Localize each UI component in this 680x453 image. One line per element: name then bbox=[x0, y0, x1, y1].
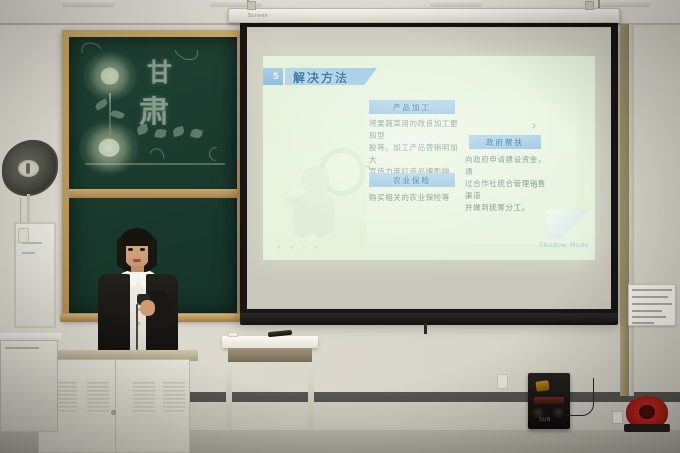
slide-title: 解决方法 bbox=[293, 69, 349, 86]
reel-hub bbox=[639, 405, 655, 419]
chalk-leaf bbox=[172, 126, 185, 137]
cabinet-lock-icon[interactable] bbox=[111, 410, 116, 415]
screen-pull-cord[interactable] bbox=[424, 323, 427, 334]
slide-marker bbox=[366, 166, 370, 170]
cabinet-vent bbox=[163, 382, 185, 414]
notice-text-line bbox=[632, 303, 672, 305]
notice-text-line bbox=[632, 296, 668, 298]
notice-text-line bbox=[632, 316, 666, 318]
copier-machine[interactable] bbox=[0, 340, 58, 432]
cabinet-vent bbox=[133, 382, 155, 414]
ceiling-lamp bbox=[598, 0, 650, 7]
speaker-driver bbox=[552, 407, 565, 418]
blackboard-divider bbox=[69, 189, 237, 198]
podium-cabinet[interactable] bbox=[38, 359, 190, 453]
fan-arm bbox=[27, 194, 30, 224]
desk-drawer[interactable] bbox=[228, 348, 312, 362]
screen-surface: 5 解决方法 产品加工 将果蔬菜用的改良加工更和型 胶等。加工产品营销明加大 宣… bbox=[247, 27, 611, 309]
chalk-leaf bbox=[154, 128, 166, 139]
cabinet-divider bbox=[115, 360, 116, 453]
slide-watermark: Shadow Mode bbox=[539, 241, 589, 249]
projector-screen-housing: Screen bbox=[228, 8, 620, 23]
projection-screen: 5 解决方法 产品加工 将果蔬菜用的改良加工更和型 胶等。加工产品营销明加大 宣… bbox=[240, 20, 618, 318]
chalk-leaf bbox=[110, 109, 125, 120]
microphone-cord bbox=[136, 304, 138, 350]
wall-outlet[interactable] bbox=[18, 228, 29, 243]
desk-leg bbox=[308, 362, 314, 428]
mouth bbox=[133, 259, 141, 262]
speaker-grille bbox=[534, 397, 564, 404]
wall-pillar bbox=[620, 24, 629, 396]
ceiling-lamp bbox=[62, 0, 114, 7]
slide-box-3-header: 政府帮扶 bbox=[469, 135, 541, 149]
speaker-cable bbox=[566, 378, 594, 416]
chalk-flower bbox=[87, 55, 133, 97]
classroom-scene: 甘 肃 Screen 5 解决方法 bbox=[0, 0, 680, 453]
copier-seam bbox=[5, 347, 39, 349]
presenter bbox=[96, 228, 178, 350]
wall-pillar-edge bbox=[629, 24, 634, 396]
screen-bottom-bar bbox=[240, 313, 618, 325]
blazer-left bbox=[98, 274, 130, 350]
presentation-slide: 5 解决方法 产品加工 将果蔬菜用的改良加工更和型 胶等。加工产品营销明加大 宣… bbox=[263, 56, 595, 260]
wall-fan bbox=[2, 140, 60, 202]
pa-speaker: SUB bbox=[528, 373, 570, 429]
slide-box-1-header: 产品加工 bbox=[369, 100, 455, 114]
eye-left bbox=[128, 248, 133, 251]
magnifying-glass-illustration-icon bbox=[285, 144, 371, 238]
speaker-label: SUB bbox=[539, 417, 551, 423]
slide-box-2-body: 购买相关的农业保险等 bbox=[369, 192, 467, 204]
slide-footer-dots: • • • • bbox=[277, 244, 321, 252]
figure-head bbox=[301, 166, 329, 194]
reel-tag bbox=[612, 411, 623, 424]
chalk-swirl bbox=[170, 37, 202, 64]
fan-hub bbox=[18, 160, 39, 177]
ceiling-lamp bbox=[430, 0, 482, 7]
slide-corner-fold bbox=[547, 210, 593, 238]
cabinet-vent bbox=[55, 382, 77, 414]
notice-text-line bbox=[632, 289, 672, 291]
housing-logo: Screen bbox=[248, 13, 268, 19]
slide-box-2-header: 农业保险 bbox=[369, 173, 455, 187]
figure-leg bbox=[295, 220, 308, 238]
wall-notice bbox=[628, 284, 676, 326]
housing-bracket bbox=[585, 1, 594, 10]
chalk-leaf bbox=[136, 124, 149, 136]
chalk-swirl bbox=[206, 144, 226, 164]
reel-base bbox=[624, 424, 670, 432]
desk-paper[interactable] bbox=[228, 332, 238, 337]
slide-number-badge: 5 bbox=[263, 68, 283, 85]
presenter-desk bbox=[222, 336, 318, 348]
speaker-badge bbox=[535, 380, 549, 392]
hair-side-right bbox=[148, 238, 157, 268]
hand bbox=[140, 300, 155, 316]
wall-outlet[interactable] bbox=[497, 374, 508, 389]
notice-text-line bbox=[632, 322, 654, 324]
chalk-leaf bbox=[94, 98, 109, 110]
housing-bracket bbox=[247, 1, 256, 10]
chalk-leaf bbox=[190, 128, 203, 140]
hair-side-left bbox=[117, 238, 126, 268]
notice-text-line bbox=[632, 310, 662, 312]
eye-right bbox=[140, 248, 145, 251]
board-mark bbox=[22, 252, 35, 254]
cabinet-vent bbox=[87, 382, 109, 414]
chalk-title-line1: 甘 bbox=[147, 53, 174, 89]
desk-leg bbox=[226, 362, 232, 428]
